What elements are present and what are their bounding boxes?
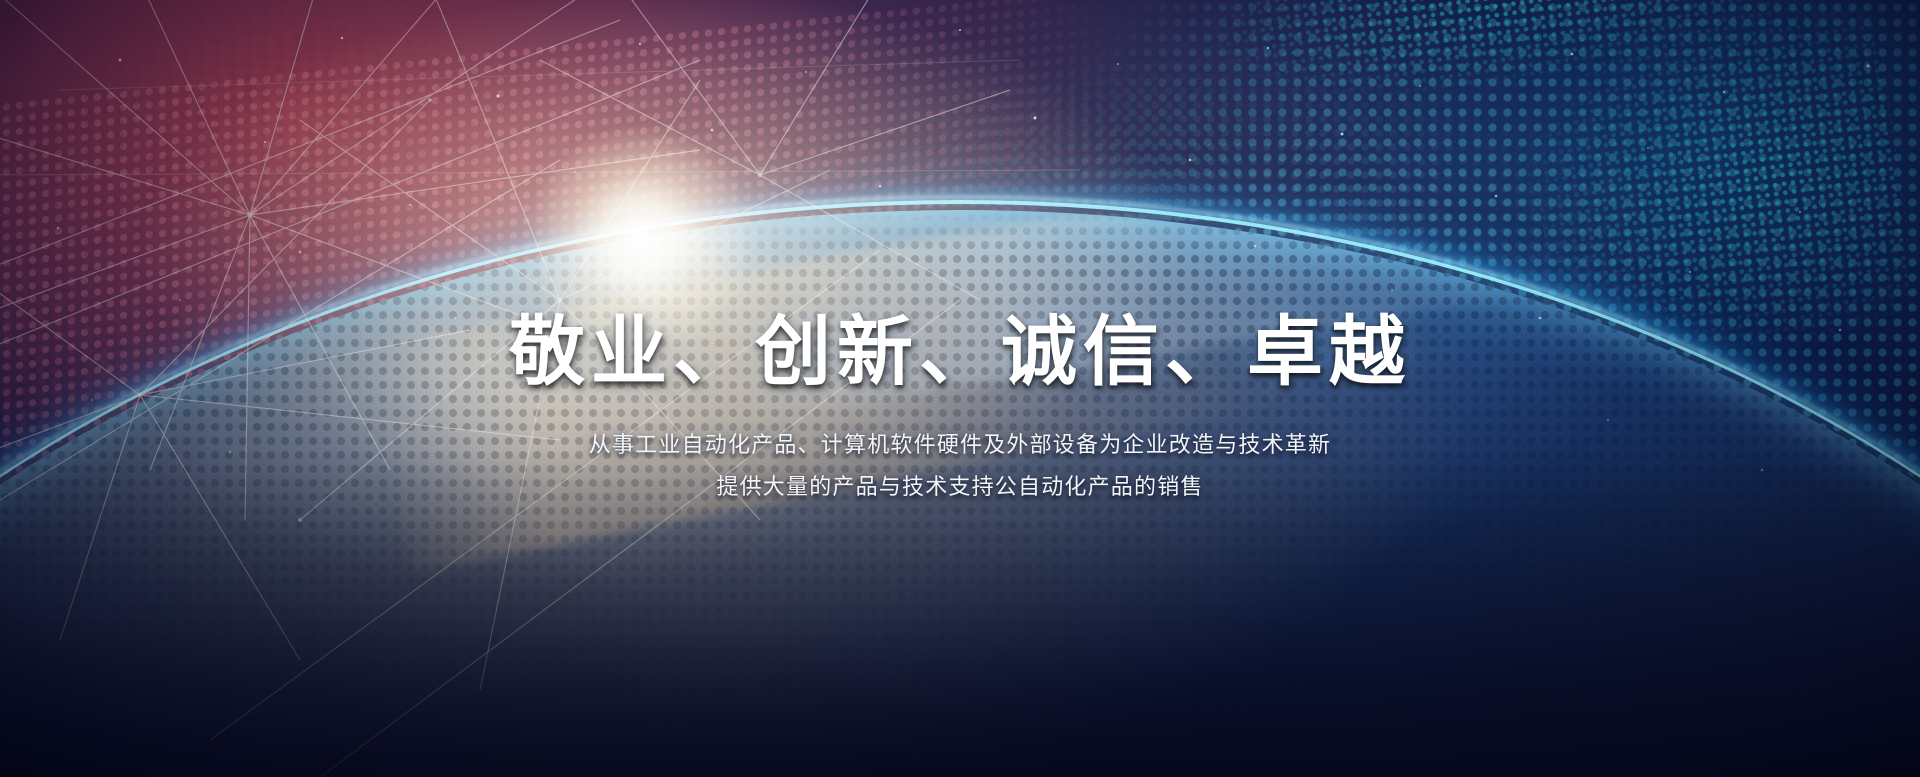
banner-content: 敬业、创新、诚信、卓越 从事工业自动化产品、计算机软件硬件及外部设备为企业改造与…: [0, 312, 1920, 509]
subtitle-line-1: 从事工业自动化产品、计算机软件硬件及外部设备为企业改造与技术革新: [0, 424, 1920, 466]
hero-banner: 敬业、创新、诚信、卓越 从事工业自动化产品、计算机软件硬件及外部设备为企业改造与…: [0, 0, 1920, 777]
banner-subtitle: 从事工业自动化产品、计算机软件硬件及外部设备为企业改造与技术革新 提供大量的产品…: [0, 424, 1920, 508]
subtitle-line-2: 提供大量的产品与技术支持公自动化产品的销售: [0, 466, 1920, 508]
banner-headline: 敬业、创新、诚信、卓越: [0, 312, 1920, 394]
